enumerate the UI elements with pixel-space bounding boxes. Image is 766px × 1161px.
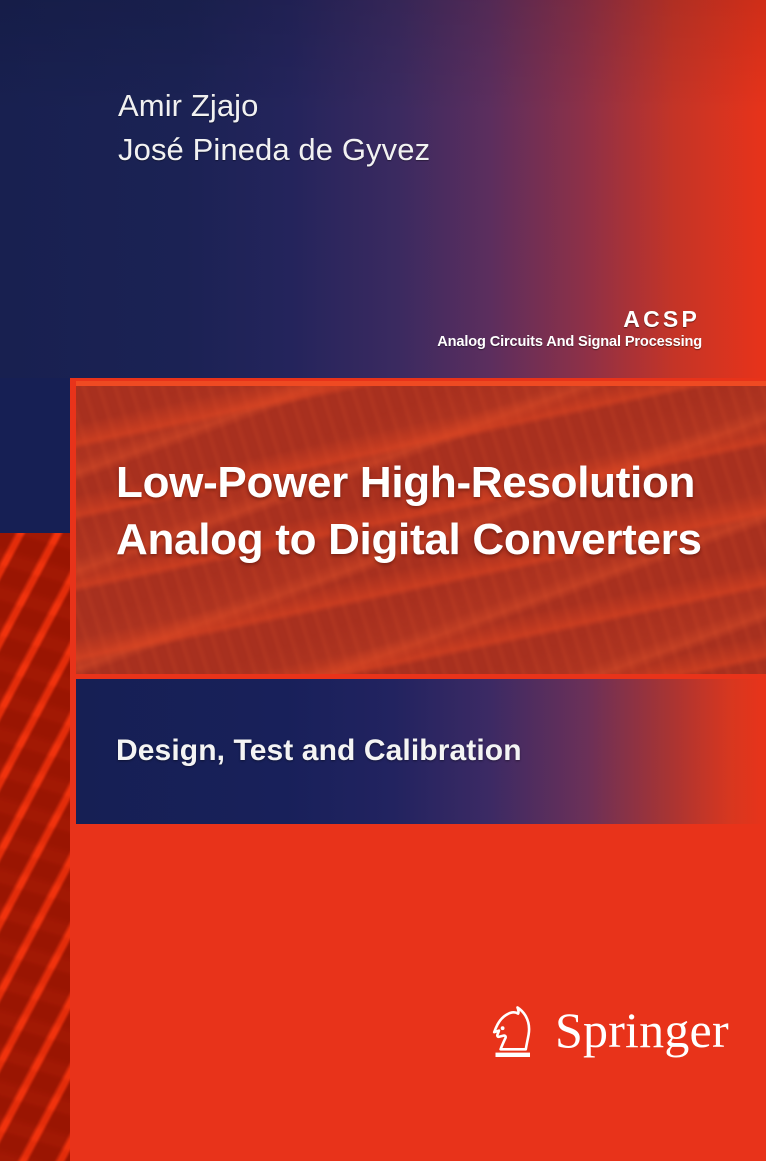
author-name-primary: Amir Zjajo	[118, 84, 430, 128]
publisher-wordmark: Springer	[555, 1005, 729, 1059]
bottom-red-field	[70, 824, 766, 1161]
series-full-name: Analog Circuits And Signal Processing	[437, 335, 702, 350]
book-cover: Amir Zjajo José Pineda de Gyvez ACSP Ana…	[0, 0, 766, 1161]
left-navy-block	[0, 378, 70, 533]
publisher-logo: Springer	[487, 1003, 729, 1061]
author-list: Amir Zjajo José Pineda de Gyvez	[118, 84, 430, 172]
book-title-line-1: Low-Power High-Resolution	[116, 455, 702, 512]
subtitle-band: Design, Test and Calibration	[76, 679, 766, 824]
series-abbreviation: ACSP	[437, 308, 702, 331]
book-subtitle: Design, Test and Calibration	[116, 734, 522, 768]
series-badge: ACSP Analog Circuits And Signal Processi…	[437, 308, 702, 350]
book-title-line-2: Analog to Digital Converters	[116, 512, 702, 569]
author-name-secondary: José Pineda de Gyvez	[118, 128, 430, 172]
title-band: Low-Power High-Resolution Analog to Digi…	[76, 381, 766, 674]
book-title: Low-Power High-Resolution Analog to Digi…	[116, 455, 702, 569]
cover-header-band: Amir Zjajo José Pineda de Gyvez ACSP Ana…	[0, 0, 766, 378]
springer-knight-icon	[487, 1003, 541, 1061]
